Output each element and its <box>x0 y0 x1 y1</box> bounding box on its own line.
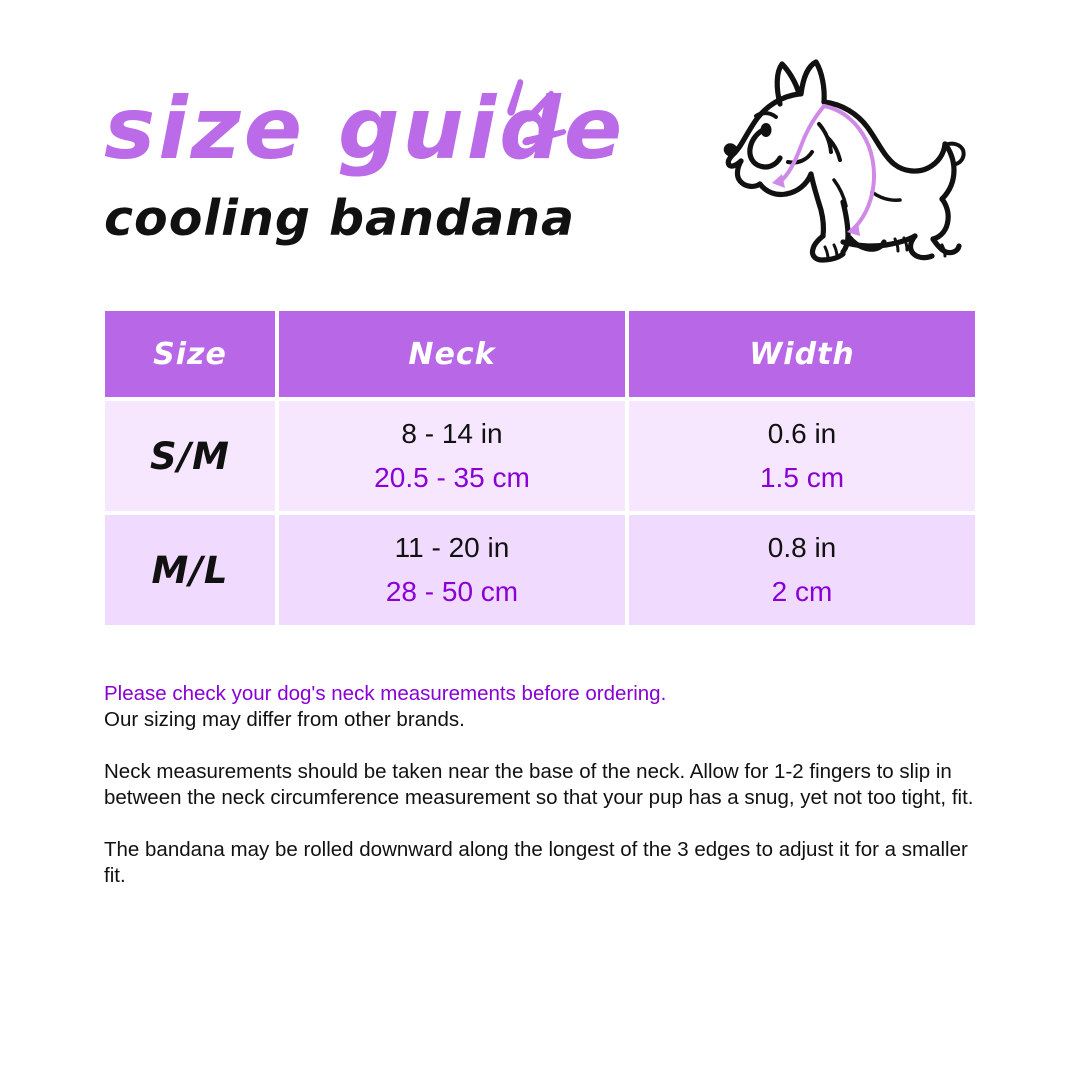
table-cell-size: M/L <box>105 515 275 625</box>
size-label: M/L <box>152 549 229 592</box>
table-header-cell-neck: Neck <box>279 311 625 397</box>
size-label: S/M <box>150 435 230 478</box>
table-header-label-neck: Neck <box>408 337 495 372</box>
french-bulldog-neck-measure-icon <box>706 42 976 282</box>
header-section: size guide cooling bandana <box>0 0 1080 300</box>
neck-inches-value: 8 - 14 in <box>401 420 502 448</box>
table-row: M/L 11 - 20 in 28 - 50 cm 0.8 in 2 cm <box>105 515 975 625</box>
table-cell-width: 0.8 in 2 cm <box>629 515 975 625</box>
neck-centimeters-value: 28 - 50 cm <box>386 578 518 606</box>
width-inches-value: 0.6 in <box>768 420 837 448</box>
page-subtitle: cooling bandana <box>104 194 624 243</box>
note-paragraph-rolling: The bandana may be rolled downward along… <box>104 837 980 889</box>
table-header-cell-width: Width <box>629 311 975 397</box>
table-cell-width: 0.6 in 1.5 cm <box>629 401 975 511</box>
sparkle-burst-icon <box>488 68 568 154</box>
size-table: Size Neck Width S/M 8 - 14 in 20.5 - 35 … <box>105 311 975 625</box>
notes-section: Please check your dog's neck measurement… <box>104 681 980 889</box>
table-header-row: Size Neck Width <box>105 311 975 397</box>
table-cell-size: S/M <box>105 401 275 511</box>
table-header-label-width: Width <box>749 337 855 372</box>
note-subline: Our sizing may differ from other brands. <box>104 707 980 733</box>
table-cell-neck: 11 - 20 in 28 - 50 cm <box>279 515 625 625</box>
table-row: S/M 8 - 14 in 20.5 - 35 cm 0.6 in 1.5 cm <box>105 401 975 511</box>
table-header-cell-size: Size <box>105 311 275 397</box>
table-cell-neck: 8 - 14 in 20.5 - 35 cm <box>279 401 625 511</box>
neck-inches-value: 11 - 20 in <box>395 534 510 562</box>
table-header-label-size: Size <box>153 337 227 372</box>
note-paragraph-primary: Please check your dog's neck measurement… <box>104 681 980 733</box>
note-highlight-line: Please check your dog's neck measurement… <box>104 681 980 707</box>
width-centimeters-value: 1.5 cm <box>760 464 844 492</box>
note-paragraph-measuring: Neck measurements should be taken near t… <box>104 759 980 811</box>
width-inches-value: 0.8 in <box>768 534 837 562</box>
neck-centimeters-value: 20.5 - 35 cm <box>374 464 530 492</box>
width-centimeters-value: 2 cm <box>772 578 833 606</box>
